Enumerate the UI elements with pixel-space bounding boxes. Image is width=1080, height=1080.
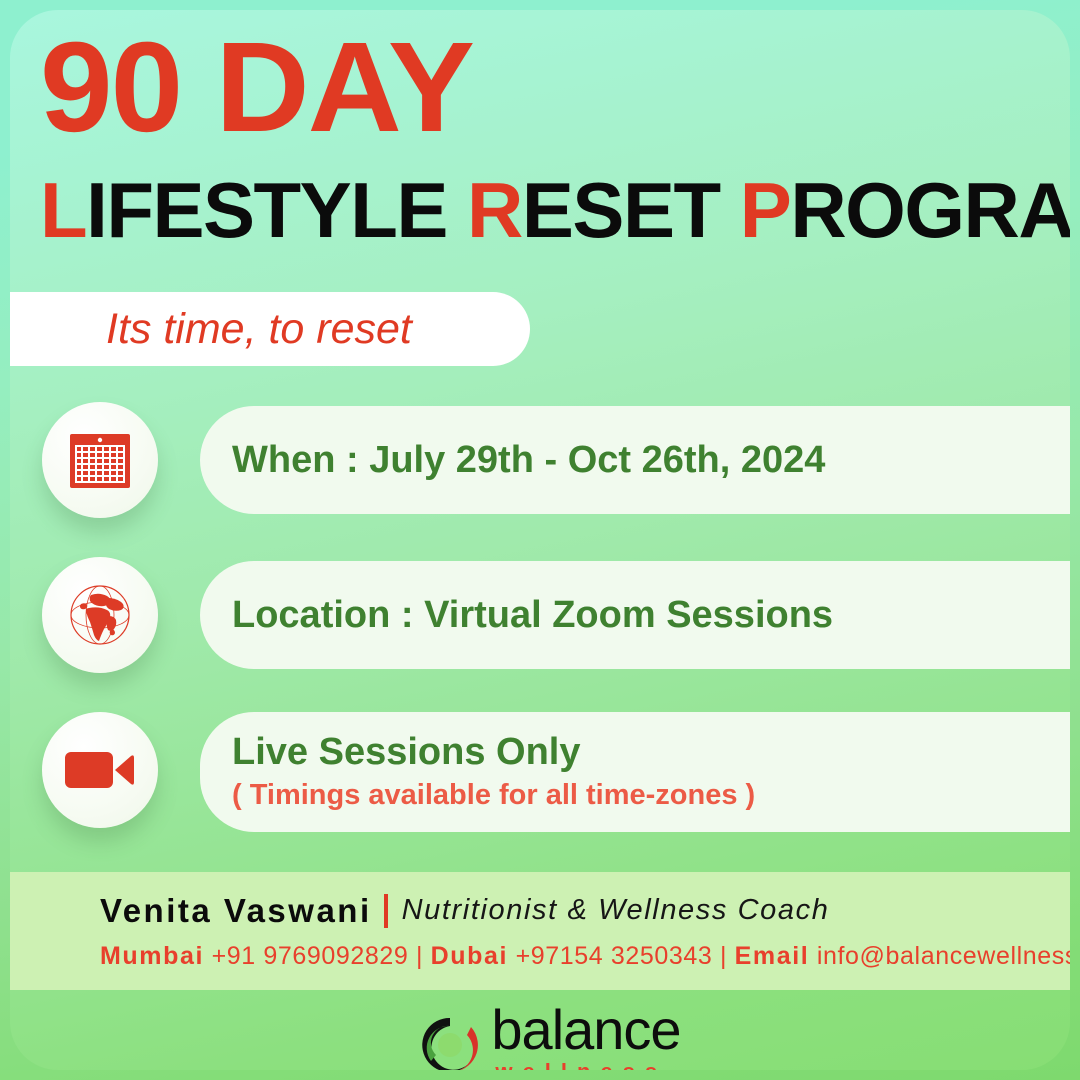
contact-label-email: Email (735, 942, 810, 970)
poster-card: 90 DAY LIFESTYLE RESET PROGRAM Its time,… (10, 10, 1070, 1070)
globe-icon (67, 582, 133, 648)
headline-cap-p: P (740, 166, 791, 254)
contact-value-mumbai[interactable]: +91 9769092829 (212, 942, 409, 970)
presenter-name: Venita Vaswani (100, 892, 372, 930)
headline-word-rogram: ROGRAM (790, 166, 1070, 254)
info-row-when: When : July 29th - Oct 26th, 2024 (10, 402, 1070, 557)
headline-word-eset: ESET (522, 166, 740, 254)
balance-swirl-icon (419, 1014, 481, 1070)
footer-contact-band: Venita Vaswani Nutritionist & Wellness C… (10, 872, 1070, 990)
subtitle-text: Its time, to reset (106, 305, 412, 354)
title-block: 90 DAY LIFESTYLE RESET PROGRAM (40, 24, 1070, 252)
presenter-line: Venita Vaswani Nutritionist & Wellness C… (100, 892, 1070, 930)
contact-separator-2: | (720, 942, 727, 970)
subtitle-pill: Its time, to reset (10, 292, 530, 366)
presenter-role: Nutritionist & Wellness Coach (402, 894, 830, 927)
info-pill-location: Location : Virtual Zoom Sessions (200, 561, 1070, 669)
headline-cap-l: L (40, 166, 86, 254)
contact-line: Mumbai +91 9769092829 | Dubai +97154 325… (100, 942, 1070, 971)
poster-root: 90 DAY LIFESTYLE RESET PROGRAM Its time,… (0, 0, 1080, 1080)
contact-separator-1: | (416, 942, 423, 970)
contact-value-email[interactable]: info@balancewellness.in (817, 942, 1070, 970)
info-subtext-timezones: ( Timings available for all time-zones ) (232, 775, 1070, 815)
info-text-location: Location : Virtual Zoom Sessions (232, 592, 1070, 638)
contact-label-dubai: Dubai (431, 942, 508, 970)
headline-cap-r: R (467, 166, 522, 254)
logo-inner: balance wellness (419, 1005, 680, 1070)
contact-label-mumbai: Mumbai (100, 942, 204, 970)
info-rows: When : July 29th - Oct 26th, 2024 (10, 402, 1070, 867)
video-camera-icon (65, 746, 135, 794)
info-row-location: Location : Virtual Zoom Sessions (10, 557, 1070, 712)
icon-circle-sessions (42, 712, 158, 828)
brand-logo: balance wellness (10, 1005, 1070, 1070)
headline-program: LIFESTYLE RESET PROGRAM (40, 168, 1070, 252)
info-pill-when: When : July 29th - Oct 26th, 2024 (200, 406, 1070, 514)
logo-word-wellness: wellness (495, 1059, 667, 1070)
headline-word-ifestyle: IFESTYLE (86, 166, 467, 254)
info-row-sessions: Live Sessions Only ( Timings available f… (10, 712, 1070, 867)
logo-word-balance: balance (491, 1005, 680, 1055)
calendar-icon (69, 430, 131, 490)
contact-value-dubai[interactable]: +97154 3250343 (516, 942, 713, 970)
icon-circle-when (42, 402, 158, 518)
info-pill-sessions: Live Sessions Only ( Timings available f… (200, 712, 1070, 832)
icon-circle-location (42, 557, 158, 673)
headline-90-day: 90 DAY (40, 24, 1070, 152)
info-text-when: When : July 29th - Oct 26th, 2024 (232, 437, 1070, 483)
logo-words: balance wellness (491, 1005, 680, 1070)
presenter-divider (384, 894, 388, 928)
info-text-sessions: Live Sessions Only (232, 729, 1070, 775)
